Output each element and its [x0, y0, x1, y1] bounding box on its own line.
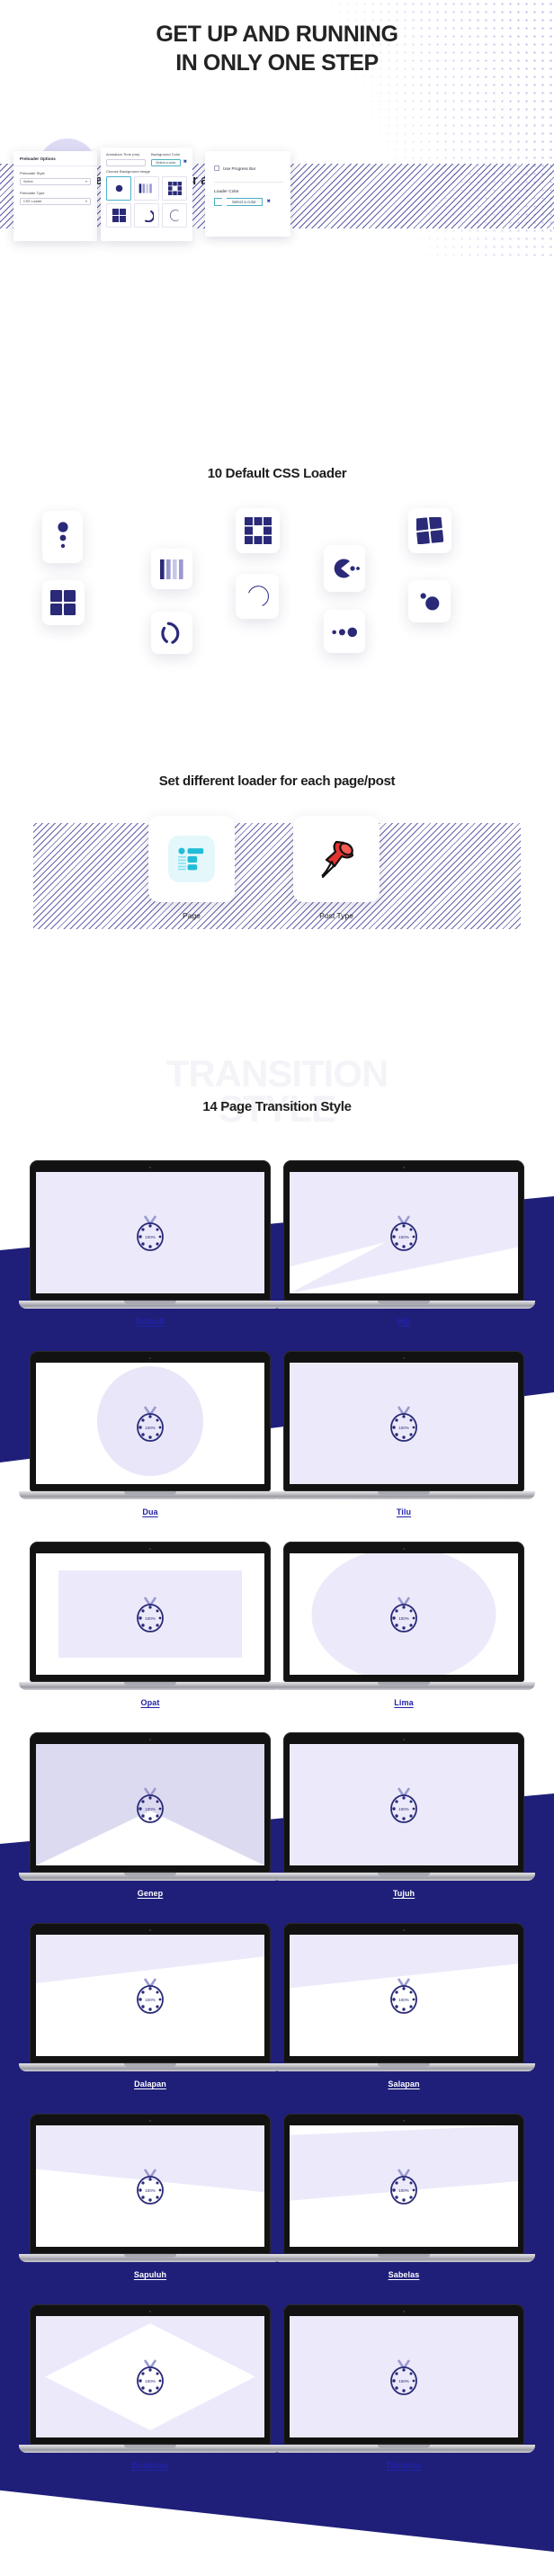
transition-label[interactable]: Dalapan: [30, 2080, 271, 2089]
transition-label[interactable]: Sapuluh: [30, 2270, 271, 2279]
laptop-lid: 100%: [283, 1732, 524, 1873]
laptop-screen: 100%: [36, 2316, 264, 2437]
svg-text:100%: 100%: [145, 1616, 156, 1621]
preloader-spinner-icon: 100%: [387, 1212, 421, 1254]
svg-text:100%: 100%: [145, 1426, 156, 1430]
laptop-lid: 100%: [283, 2114, 524, 2254]
hero-line-2: IN ONLY ONE STEP: [175, 50, 379, 76]
laptop-lid: 100%: [30, 1923, 271, 2063]
close-icon[interactable]: ✖: [183, 160, 187, 165]
preloader-style-label: Preloader Style: [20, 171, 91, 175]
camera-icon: [149, 1357, 151, 1359]
use-progress-bar-checkbox[interactable]: [214, 165, 219, 171]
laptop-base: [19, 1682, 281, 1690]
transition-label[interactable]: Salapan: [283, 2080, 524, 2089]
laptop-screen: 100%: [36, 1744, 264, 1865]
loader-card-pacman-dots[interactable]: [324, 545, 365, 592]
page-title: GET UP AND RUNNING IN ONLY ONE STEP: [0, 20, 554, 77]
background-select-color-button[interactable]: Select a color: [151, 159, 181, 167]
preloader-spinner-icon: 100%: [387, 1975, 421, 2017]
loader-card-three-dots-vertical[interactable]: [42, 511, 83, 563]
svg-text:100%: 100%: [398, 1807, 409, 1811]
laptop-screen: 100%: [290, 1363, 518, 1484]
transition-card-tilubelas[interactable]: 100% Tilubelas: [283, 2304, 524, 2470]
animation-time-input[interactable]: [106, 159, 146, 167]
transition-card-salapan[interactable]: 100% Salapan: [283, 1923, 524, 2089]
laptop-base: [273, 2063, 535, 2071]
animation-time-label: Animation Time (ms): [106, 152, 146, 157]
page-card-label: Page: [148, 911, 235, 920]
svg-text:100%: 100%: [145, 1998, 156, 2002]
laptop-base: [273, 1491, 535, 1499]
camera-icon: [149, 1167, 151, 1168]
preloader-options-panel: Preloader Options Preloader Style Select…: [13, 151, 97, 241]
close-icon[interactable]: ✖: [267, 200, 271, 204]
thumbnail-arc-thick[interactable]: [134, 203, 159, 228]
thumbnail-ring-grid[interactable]: [162, 176, 187, 201]
preloader-spinner-icon: 100%: [133, 1975, 167, 2017]
preloader-spinner-icon: 100%: [133, 1594, 167, 1635]
loader-card-thin-arc[interactable]: [236, 574, 279, 619]
loader-color-label: Loader Color: [205, 183, 290, 198]
laptop-screen: 100%: [36, 1553, 264, 1675]
transition-card-duabelas[interactable]: 100% Duabelas: [30, 2304, 271, 2470]
preloader-spinner-icon: 100%: [387, 2166, 421, 2207]
laptop-lid: 100%: [30, 1542, 271, 1682]
transition-label[interactable]: Default: [30, 1317, 271, 1326]
thumbnail-arc-thin[interactable]: [162, 203, 187, 228]
laptop-screen: 100%: [290, 1553, 518, 1675]
laptop-lid: 100%: [30, 1351, 271, 1491]
pushpin-icon: [314, 836, 359, 881]
camera-icon: [403, 1167, 405, 1168]
laptop-base: [273, 2254, 535, 2262]
laptop-lid: 100%: [283, 1923, 524, 2063]
background-color-label: Background Color: [151, 152, 187, 157]
transition-card-sapuluh[interactable]: 100% Sapuluh: [30, 2114, 271, 2279]
background-image-thumbnail-grid: [101, 176, 192, 233]
preloader-spinner-icon: 100%: [133, 1784, 167, 1826]
camera-icon: [403, 1739, 405, 1740]
laptop-base: [273, 2445, 535, 2453]
transition-card-lima[interactable]: 100% Lima: [283, 1542, 524, 1707]
laptop-lid: 100%: [283, 1351, 524, 1491]
transition-card-sabelas[interactable]: 100% Sabelas: [283, 2114, 524, 2279]
laptop-base: [273, 1873, 535, 1881]
svg-text:100%: 100%: [145, 1807, 156, 1811]
transition-heading: 14 Page Transition Style: [0, 1099, 554, 1114]
svg-text:100%: 100%: [145, 2379, 156, 2384]
laptop-screen: 100%: [290, 1744, 518, 1865]
laptop-screen: 100%: [36, 2125, 264, 2247]
preloader-type-label: Preloader Type: [20, 191, 91, 195]
camera-icon: [149, 1929, 151, 1931]
choose-background-image-label: Choose Background Image: [101, 169, 192, 174]
preloader-spinner-icon: 100%: [133, 1403, 167, 1445]
transition-label[interactable]: Hiji: [283, 1317, 524, 1326]
laptop-screen: 100%: [290, 2316, 518, 2437]
transition-card-genep[interactable]: 100% Genep: [30, 1732, 271, 1898]
loader-card-four-squares[interactable]: [42, 580, 85, 625]
per-page-loader-cards: Page Post Type: [0, 805, 554, 958]
use-progress-bar-row[interactable]: Use Progress Bar: [205, 151, 290, 171]
preloader-spinner-icon: 100%: [387, 2357, 421, 2398]
use-progress-bar-label: Use Progress Bar: [223, 166, 255, 171]
preloader-type-select[interactable]: CSS Loader ▾: [20, 198, 91, 206]
hero-line-1: GET UP AND RUNNING: [156, 22, 398, 47]
preloader-spinner-icon: 100%: [133, 2166, 167, 2207]
laptop-lid: 100%: [283, 2304, 524, 2445]
svg-text:100%: 100%: [398, 2379, 409, 2384]
transition-label[interactable]: Lima: [283, 1698, 524, 1707]
loader-color-swatch[interactable]: [214, 198, 222, 206]
laptop-lid: 100%: [30, 1160, 271, 1301]
preloader-spinner-icon: 100%: [387, 1594, 421, 1635]
loader-card-two-circles[interactable]: [408, 580, 451, 622]
preloader-style-select[interactable]: Select ▾: [20, 178, 91, 186]
transition-label[interactable]: Sabelas: [283, 2270, 524, 2279]
svg-text:100%: 100%: [145, 2188, 156, 2193]
transition-card-dalapan[interactable]: 100% Dalapan: [30, 1923, 271, 2089]
camera-icon: [149, 1548, 151, 1550]
transition-watermark: TRANSITION STYLE: [0, 1057, 554, 1126]
chevron-down-icon: ▾: [85, 199, 87, 203]
preloader-spinner-icon: 100%: [387, 1403, 421, 1445]
transition-card-dua[interactable]: 100% Dua: [30, 1351, 271, 1516]
loader-card-four-bars[interactable]: [151, 549, 192, 589]
transition-label[interactable]: Tilu: [283, 1507, 524, 1516]
loader-card-four-tilted-squares[interactable]: [408, 508, 451, 553]
laptop-lid: 100%: [283, 1542, 524, 1682]
laptop-base: [19, 1491, 281, 1499]
camera-icon: [149, 2120, 151, 2122]
admin-panels-screenshot: Preloader Options Preloader Style Select…: [0, 151, 554, 241]
thumbnail-quad-grid[interactable]: [106, 203, 131, 228]
navy-band-5: [0, 2482, 554, 2576]
svg-text:100%: 100%: [398, 1235, 409, 1239]
laptop-base: [19, 1873, 281, 1881]
laptop-screen: 100%: [290, 1172, 518, 1293]
thumbnail-circle[interactable]: [106, 176, 131, 201]
transition-label[interactable]: Dua: [30, 1507, 271, 1516]
transition-card-hiji[interactable]: 100% Hiji: [283, 1160, 524, 1326]
per-page-loader-heading: Set different loader for each page/post: [0, 774, 554, 789]
laptop-base: [273, 1301, 535, 1309]
landing-page: GET UP AND RUNNING IN ONLY ONE STEP Step…: [0, 0, 554, 2576]
page-loader-card[interactable]: [148, 816, 235, 902]
camera-icon: [403, 1357, 405, 1359]
camera-icon: [403, 2120, 405, 2122]
transition-label[interactable]: Tilubelas: [283, 2461, 524, 2470]
laptop-lid: 100%: [30, 2304, 271, 2445]
chevron-down-icon: ▾: [85, 179, 87, 183]
laptop-base: [19, 1301, 281, 1309]
preloader-spinner-icon: 100%: [133, 1212, 167, 1254]
laptop-screen: 100%: [290, 2125, 518, 2247]
transition-card-tilu[interactable]: 100% Tilu: [283, 1351, 524, 1516]
camera-icon: [403, 1548, 405, 1550]
laptop-base: [19, 2445, 281, 2453]
laptop-base: [19, 2254, 281, 2262]
panel-header: Preloader Options: [13, 151, 97, 166]
transition-label[interactable]: Opat: [30, 1698, 271, 1707]
laptop-screen: 100%: [36, 1172, 264, 1293]
laptop-lid: 100%: [30, 2114, 271, 2254]
transition-card-default[interactable]: 100% Default: [30, 1160, 271, 1326]
loader-color-row: Select a color ✖: [205, 198, 290, 206]
page-layout-icon: [168, 836, 215, 882]
preloader-style-value: Select: [23, 180, 33, 183]
preloader-spinner-icon: 100%: [387, 1784, 421, 1826]
transition-label[interactable]: Genep: [30, 1889, 271, 1898]
preloader-spinner-icon: 100%: [133, 2357, 167, 2398]
camera-icon: [403, 2311, 405, 2312]
loader-card-three-dots-growing[interactable]: [324, 610, 365, 653]
css-loader-grid: [0, 504, 554, 684]
camera-icon: [149, 2311, 151, 2312]
laptop-base: [19, 2063, 281, 2071]
css-loader-heading: 10 Default CSS Loader: [0, 466, 554, 481]
loader-select-color-button[interactable]: Select a color: [227, 198, 263, 206]
progress-and-loader-color-panel: Use Progress Bar Loader Color Select a c…: [205, 151, 290, 237]
svg-text:100%: 100%: [398, 1998, 409, 2002]
post-type-loader-card[interactable]: [293, 816, 380, 902]
loader-card-broken-ring[interactable]: [151, 612, 192, 654]
preloader-type-value: CSS Loader: [23, 200, 42, 203]
transition-card-opat[interactable]: 100% Opat: [30, 1542, 271, 1707]
svg-text:100%: 100%: [398, 1426, 409, 1430]
laptop-base: [273, 1682, 535, 1690]
hero-section: GET UP AND RUNNING IN ONLY ONE STEP: [0, 0, 554, 77]
laptop-lid: 100%: [283, 1160, 524, 1301]
laptop-screen: 100%: [290, 1935, 518, 2056]
svg-text:100%: 100%: [398, 2188, 409, 2193]
thumbnail-bars[interactable]: [134, 176, 159, 201]
svg-text:100%: 100%: [398, 1616, 409, 1621]
background-settings-panel: Animation Time (ms) Background Color Sel…: [101, 148, 192, 241]
camera-icon: [149, 1739, 151, 1740]
transition-label[interactable]: Tujuh: [283, 1889, 524, 1898]
svg-text:100%: 100%: [145, 1235, 156, 1239]
hatch-background: [0, 823, 554, 929]
laptop-screen: 100%: [36, 1935, 264, 2056]
laptop-screen: 100%: [36, 1363, 264, 1484]
transition-card-tujuh[interactable]: 100% Tujuh: [283, 1732, 524, 1898]
transition-label[interactable]: Duabelas: [30, 2461, 271, 2470]
loader-card-nine-square-ring[interactable]: [236, 508, 280, 553]
post-type-card-label: Post Type: [293, 911, 380, 920]
laptop-lid: 100%: [30, 1732, 271, 1873]
camera-icon: [403, 1929, 405, 1931]
